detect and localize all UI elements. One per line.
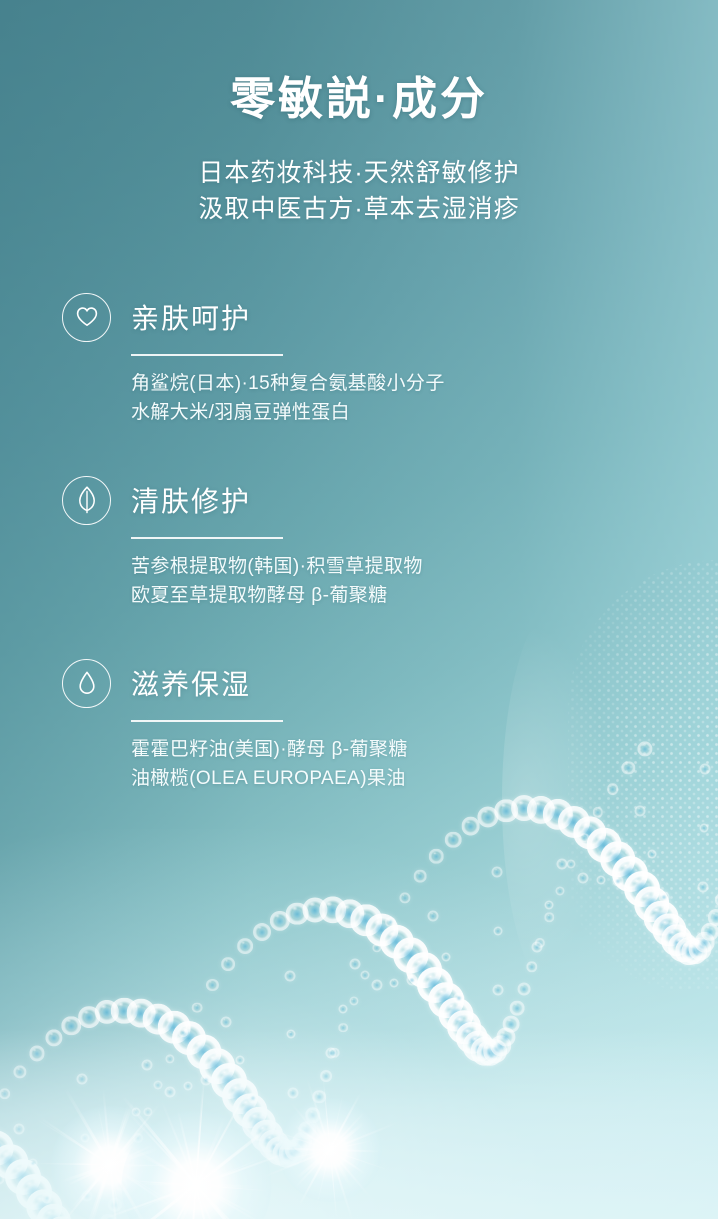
section-header: 滋养保湿 <box>62 658 718 708</box>
poster-content: 零敏説·成分 日本药妆科技·天然舒敏修护 汲取中医古方·草本去湿消疹 亲肤呵护 <box>0 0 718 1219</box>
section-divider <box>131 537 283 539</box>
section-line: 霍霍巴籽油(美国)·酵母 β-葡聚糖 <box>131 735 718 764</box>
section-header: 清肤修护 <box>62 475 718 525</box>
heart-in-circle-icon <box>62 293 111 342</box>
section-title: 滋养保湿 <box>131 663 251 703</box>
section-divider <box>131 354 283 356</box>
section-body: 霍霍巴籽油(美国)·酵母 β-葡聚糖 油橄榄(OLEA EUROPAEA)果油 <box>131 735 718 793</box>
ingredient-section: 亲肤呵护 角鲨烷(日本)·15种复合氨基酸小分子 水解大米/羽扇豆弹性蛋白 <box>62 292 718 427</box>
water-drop-in-circle-icon <box>62 659 111 708</box>
section-header: 亲肤呵护 <box>62 292 718 342</box>
page-title: 零敏説·成分 <box>0 62 718 127</box>
page-subtitle: 日本药妆科技·天然舒敏修护 汲取中医古方·草本去湿消疹 <box>0 155 718 227</box>
section-body: 苦参根提取物(韩国)·积雪草提取物 欧夏至草提取物酵母 β-葡聚糖 <box>131 552 718 610</box>
ingredient-section: 清肤修护 苦参根提取物(韩国)·积雪草提取物 欧夏至草提取物酵母 β-葡聚糖 <box>62 475 718 610</box>
section-line: 欧夏至草提取物酵母 β-葡聚糖 <box>131 581 718 610</box>
ingredient-sections: 亲肤呵护 角鲨烷(日本)·15种复合氨基酸小分子 水解大米/羽扇豆弹性蛋白 <box>62 292 718 793</box>
section-line: 苦参根提取物(韩国)·积雪草提取物 <box>131 552 718 581</box>
section-line: 角鲨烷(日本)·15种复合氨基酸小分子 <box>131 369 718 398</box>
subtitle-line-1: 日本药妆科技·天然舒敏修护 <box>0 155 718 191</box>
section-divider <box>131 720 283 722</box>
leaf-in-circle-icon <box>62 476 111 525</box>
section-title: 亲肤呵护 <box>131 297 251 337</box>
section-body: 角鲨烷(日本)·15种复合氨基酸小分子 水解大米/羽扇豆弹性蛋白 <box>131 369 718 427</box>
subtitle-line-2: 汲取中医古方·草本去湿消疹 <box>0 191 718 227</box>
section-title: 清肤修护 <box>131 480 251 520</box>
section-line: 水解大米/羽扇豆弹性蛋白 <box>131 398 718 427</box>
section-line: 油橄榄(OLEA EUROPAEA)果油 <box>131 764 718 793</box>
ingredient-section: 滋养保湿 霍霍巴籽油(美国)·酵母 β-葡聚糖 油橄榄(OLEA EUROPAE… <box>62 658 718 793</box>
ingredient-poster: 零敏説·成分 日本药妆科技·天然舒敏修护 汲取中医古方·草本去湿消疹 亲肤呵护 <box>0 0 718 1219</box>
